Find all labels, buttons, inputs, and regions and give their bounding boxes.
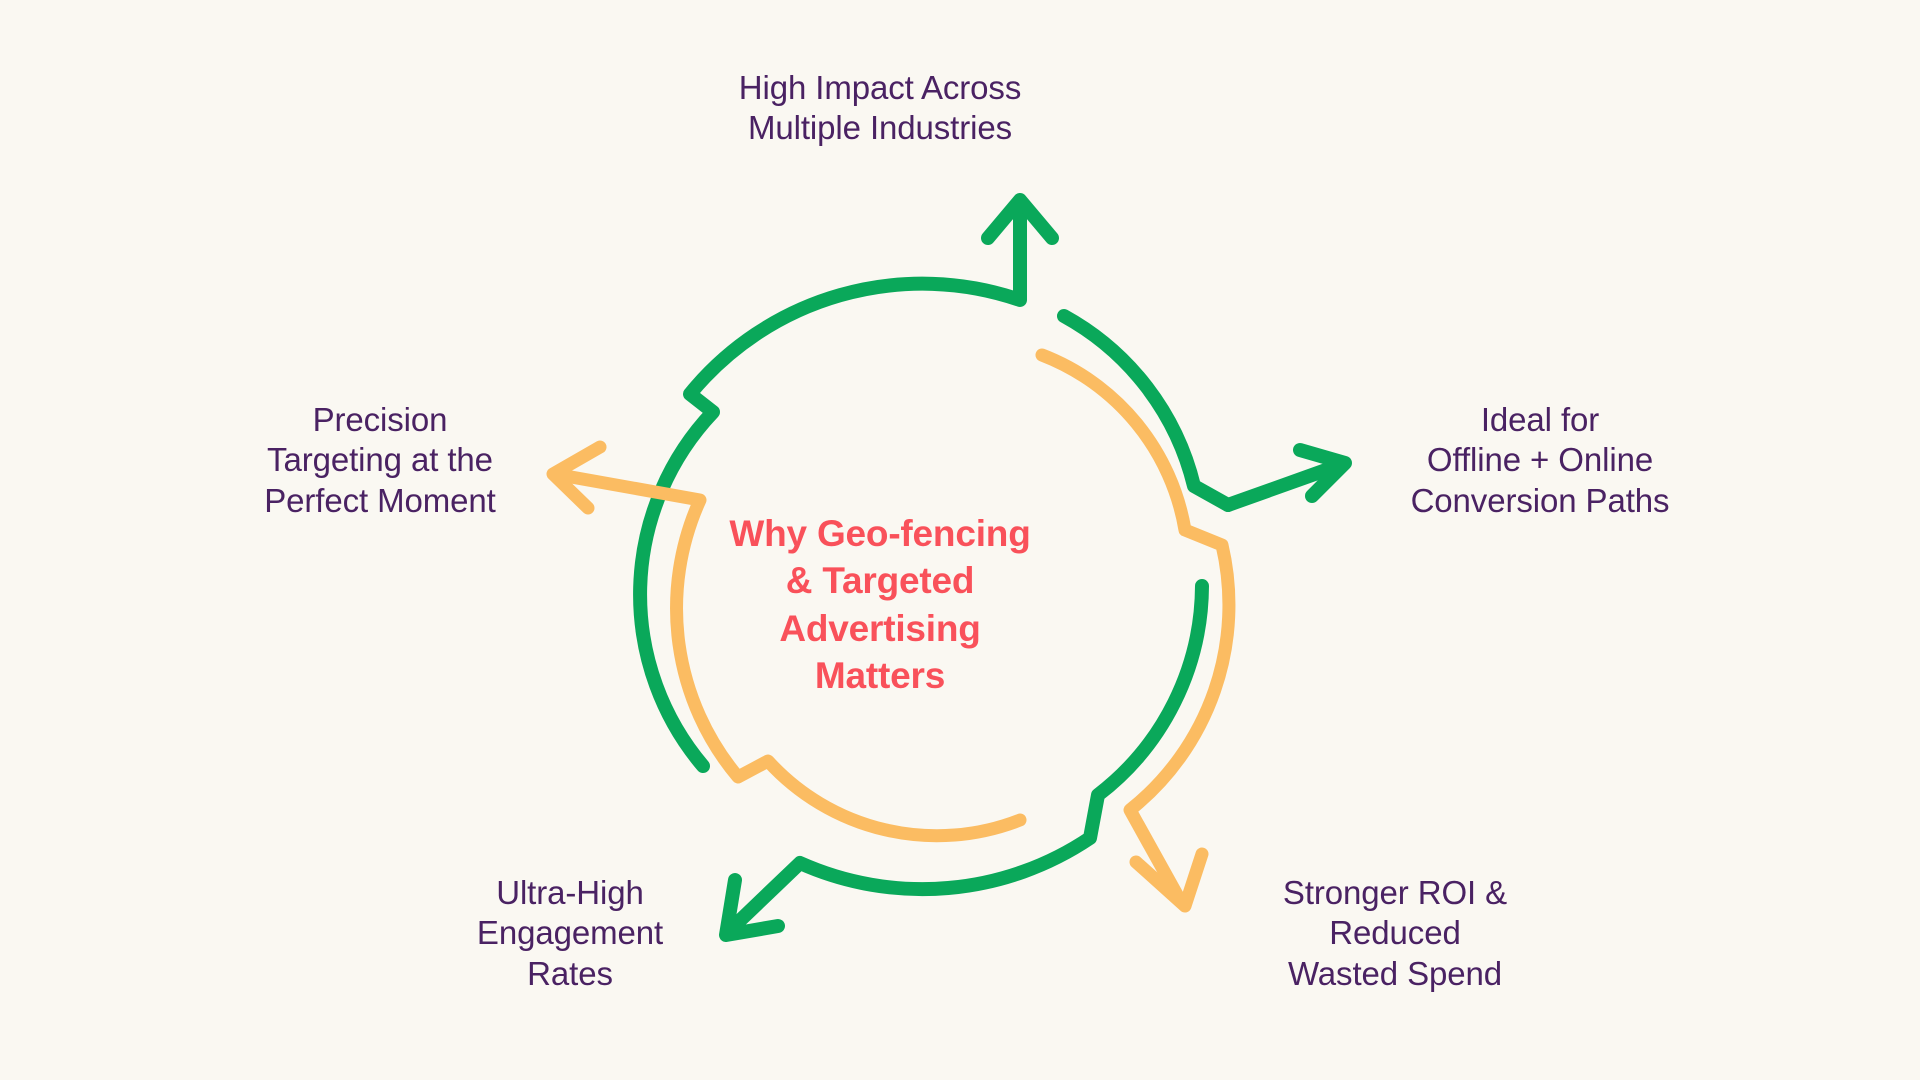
node-label-right-line-2: Offline + Online — [1360, 440, 1720, 480]
node-label-bottom-right-line-3: Wasted Spend — [1210, 954, 1580, 994]
center-title-line-3: Advertising — [660, 605, 1100, 652]
center-title-line-1: Why Geo-fencing — [660, 510, 1100, 557]
node-label-top: High Impact Across Multiple Industries — [660, 68, 1100, 149]
node-label-bottom-left-line-1: Ultra-High — [400, 873, 740, 913]
node-label-bottom-right-line-2: Reduced — [1210, 913, 1580, 953]
node-label-right: Ideal for Offline + Online Conversion Pa… — [1360, 400, 1720, 521]
node-label-bottom-left: Ultra-High Engagement Rates — [400, 873, 740, 994]
ring-segment-right-green — [1064, 316, 1228, 505]
center-title-line-4: Matters — [660, 652, 1100, 699]
node-label-top-line-1: High Impact Across — [660, 68, 1100, 108]
node-label-bottom-left-line-2: Engagement — [400, 913, 740, 953]
center-title-line-2: & Targeted — [660, 557, 1100, 604]
node-label-left-line-2: Targeting at the — [210, 440, 550, 480]
node-label-bottom-right-line-1: Stronger ROI & — [1210, 873, 1580, 913]
node-label-left-line-3: Perfect Moment — [210, 481, 550, 521]
node-label-left: Precision Targeting at the Perfect Momen… — [210, 400, 550, 521]
node-label-bottom-left-line-3: Rates — [400, 954, 740, 994]
center-title: Why Geo-fencing & Targeted Advertising M… — [660, 510, 1100, 699]
diagram-canvas: Why Geo-fencing & Targeted Advertising M… — [0, 0, 1920, 1080]
node-label-left-line-1: Precision — [210, 400, 550, 440]
node-label-top-line-2: Multiple Industries — [660, 108, 1100, 148]
node-label-right-line-3: Conversion Paths — [1360, 481, 1720, 521]
node-label-right-line-1: Ideal for — [1360, 400, 1720, 440]
node-label-bottom-right: Stronger ROI & Reduced Wasted Spend — [1210, 873, 1580, 994]
